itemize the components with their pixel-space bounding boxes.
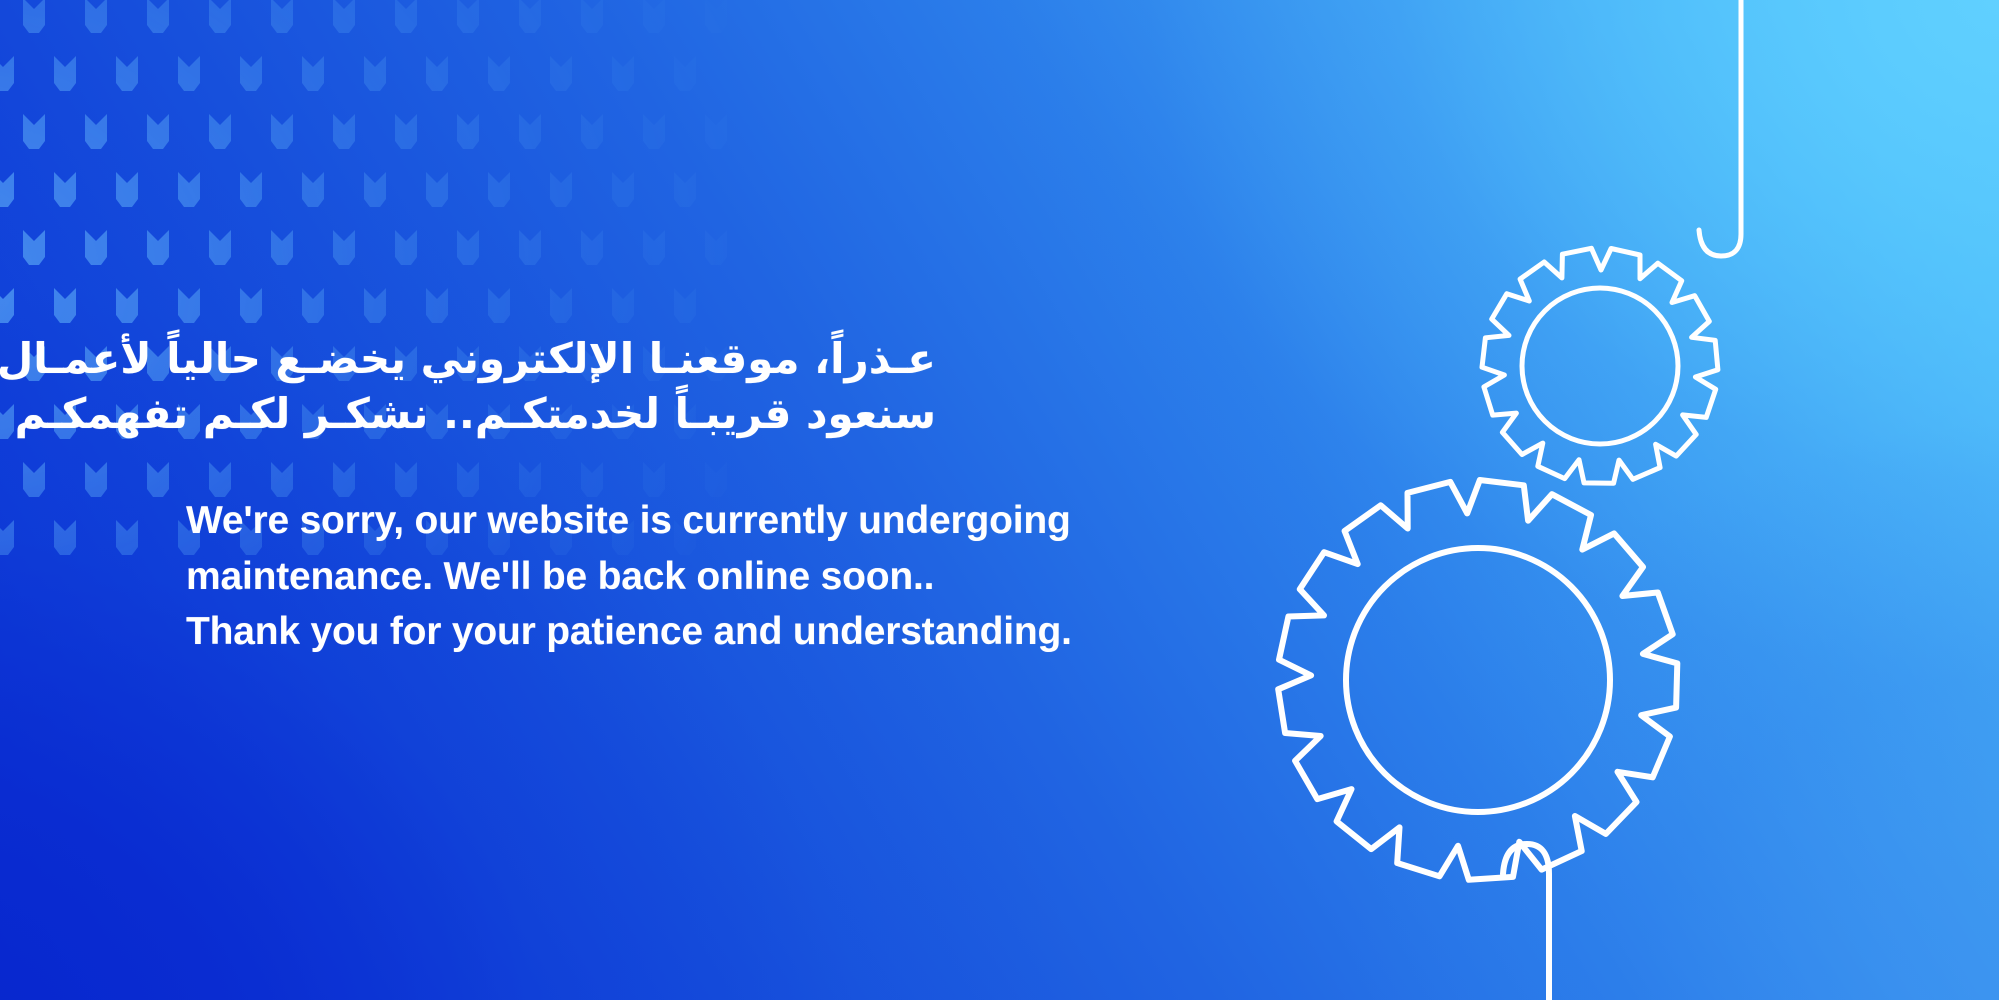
- maintenance-page: عـذراً، موقعنـا الإلكتروني يخضـع حالياً …: [0, 0, 1999, 1000]
- arabic-message: عـذراً، موقعنـا الإلكتروني يخضـع حالياً …: [186, 332, 936, 441]
- arabic-line-1: عـذراً، موقعنـا الإلكتروني يخضـع حالياً …: [186, 332, 936, 387]
- maintenance-message: عـذراً، موقعنـا الإلكتروني يخضـع حالياً …: [186, 332, 1186, 659]
- english-message: We're sorry, our website is currently un…: [186, 493, 1186, 659]
- english-line-3: Thank you for your patience and understa…: [186, 604, 1186, 659]
- arabic-line-2: سنعود قريبـاً لخدمتكـم.. نشكـر لكـم تفهم…: [186, 387, 936, 442]
- english-line-2: maintenance. We'll be back online soon..: [186, 549, 1186, 604]
- english-line-1: We're sorry, our website is currently un…: [186, 493, 1186, 548]
